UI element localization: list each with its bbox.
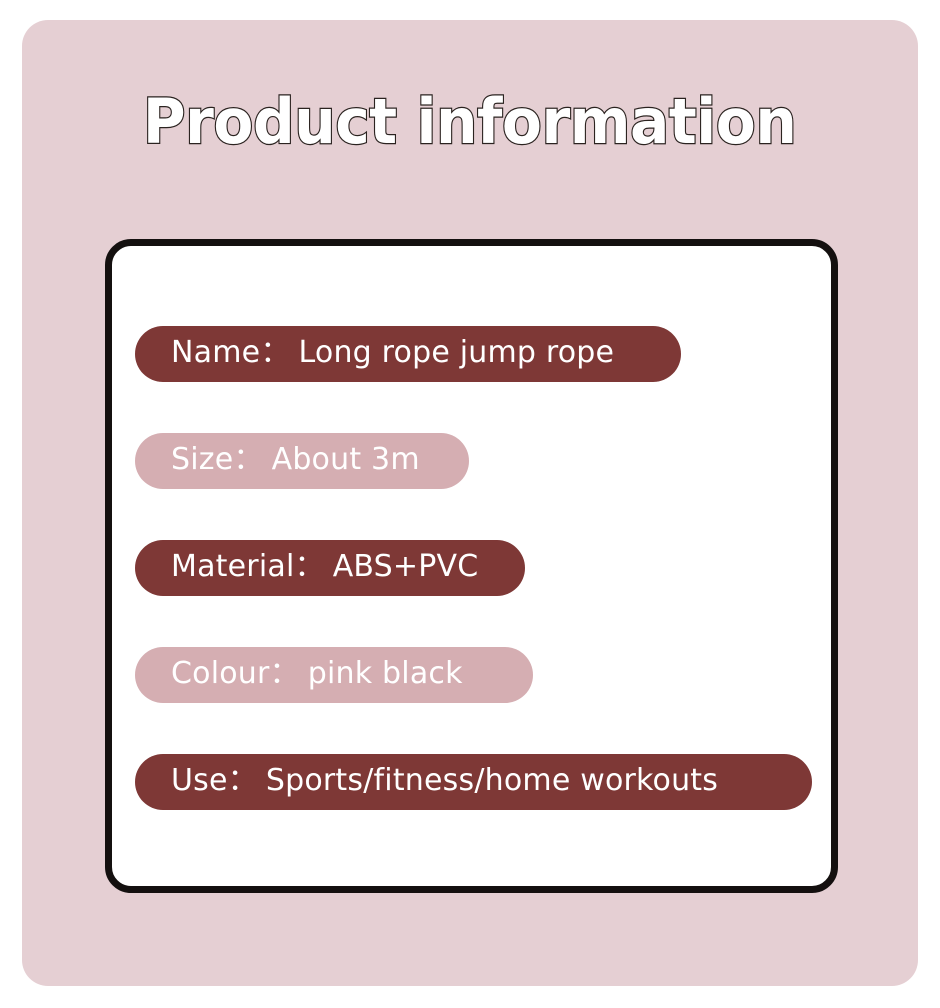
spec-row-material: Material：ABS+PVC [135,540,895,596]
spec-row-colour: Colour：pink black [135,647,895,703]
spec-pill-material: Material：ABS+PVC [135,540,525,596]
spec-pill-name-text: Name：Long rope jump rope [171,338,614,368]
spec-pill-material-text: Material：ABS+PVC [171,552,478,582]
spec-pill-use: Use：Sports/fitness/home workouts [135,754,812,810]
spec-value-material: ABS+PVC [333,549,479,584]
spec-value-use: Sports/fitness/home workouts [266,763,718,798]
spec-label-size: Size [171,442,233,477]
spec-pill-size: Size：About 3m [135,433,469,489]
spec-label-use: Use [171,763,228,798]
spec-pill-use-text: Use：Sports/fitness/home workouts [171,766,718,796]
spec-pill-name: Name：Long rope jump rope [135,326,681,382]
spec-label-colour: Colour [171,656,270,691]
spec-separator-colour: ： [270,656,300,691]
spec-row-name: Name：Long rope jump rope [135,326,895,382]
spec-pill-size-text: Size：About 3m [171,445,420,475]
spec-value-size: About 3m [272,442,420,477]
spec-list: Name：Long rope jump rope Size：About 3m M… [135,326,895,810]
spec-label-name: Name [171,335,260,370]
spec-value-name: Long rope jump rope [299,335,615,370]
spec-pill-colour: Colour：pink black [135,647,533,703]
spec-separator-use: ： [228,763,258,798]
spec-label-material: Material [171,549,294,584]
spec-value-colour: pink black [308,656,463,691]
spec-separator-material: ： [294,549,324,584]
spec-separator-name: ： [260,335,290,370]
spec-separator-size: ： [233,442,263,477]
spec-pill-colour-text: Colour：pink black [171,659,463,689]
product-information-infographic: Product information Name：Long rope jump … [0,0,940,1008]
spec-row-use: Use：Sports/fitness/home workouts [135,754,895,810]
spec-row-size: Size：About 3m [135,433,895,489]
